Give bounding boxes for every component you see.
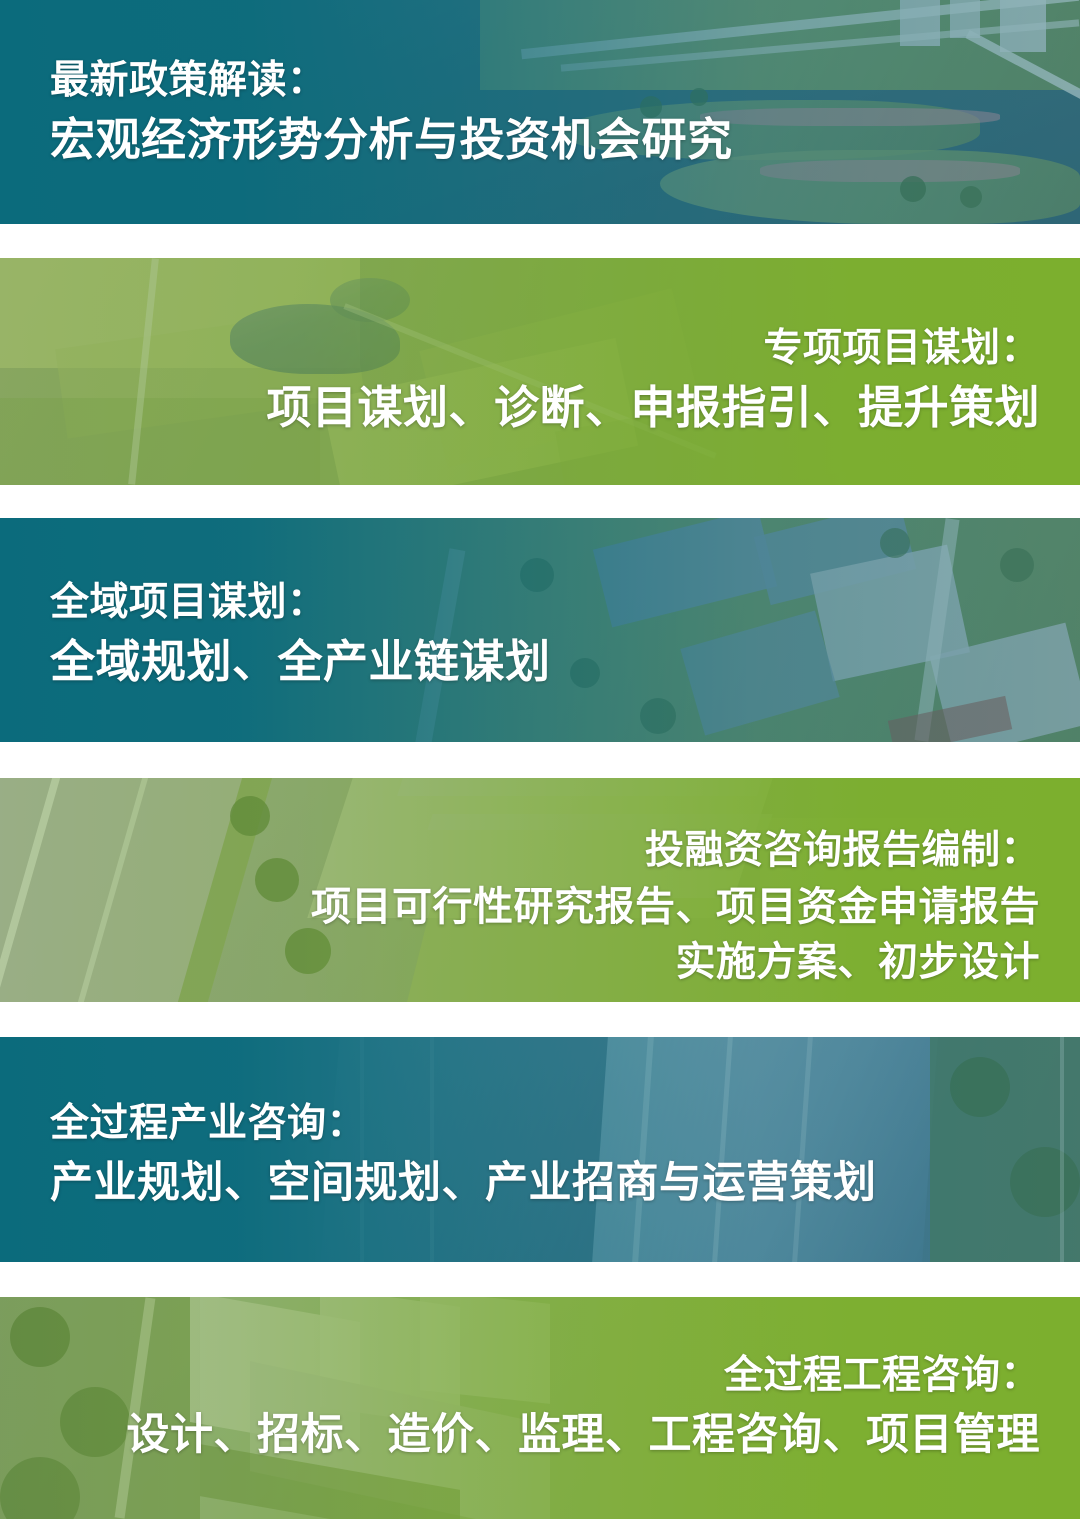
band-6-title: 全过程工程咨询：	[127, 1347, 1041, 1405]
band-5-title: 全过程产业咨询：	[50, 1095, 877, 1153]
band-4-title: 投融资咨询报告编制：	[311, 822, 1040, 880]
band-2-text: 专项项目谋划： 项目谋划、诊断、申报指引、提升策划	[266, 320, 1040, 438]
service-banner-poster: 最新政策解读： 宏观经济形势分析与投资机会研究 专项项目谋划： 项目谋划、诊断、…	[0, 0, 1080, 1519]
band-full-process-engineering-consulting[interactable]: 全过程工程咨询： 设计、招标、造价、监理、工程咨询、项目管理	[0, 1297, 1080, 1519]
band-4-text: 投融资咨询报告编制： 项目可行性研究报告、项目资金申请报告 实施方案、初步设计	[311, 822, 1040, 990]
band-investment-financing-report[interactable]: 投融资咨询报告编制： 项目可行性研究报告、项目资金申请报告 实施方案、初步设计	[0, 778, 1080, 1002]
band-3-text: 全域项目谋划： 全域规划、全产业链谋划	[50, 574, 551, 692]
band-4-line-2: 实施方案、初步设计	[311, 935, 1040, 990]
band-2-line-1: 项目谋划、诊断、申报指引、提升策划	[266, 378, 1040, 438]
band-policy-interpretation[interactable]: 最新政策解读： 宏观经济形势分析与投资机会研究	[0, 0, 1080, 224]
band-2-title: 专项项目谋划：	[266, 320, 1040, 378]
band-6-line-1: 设计、招标、造价、监理、工程咨询、项目管理	[127, 1405, 1041, 1465]
band-1-line-1: 宏观经济形势分析与投资机会研究	[50, 110, 733, 170]
band-3-line-1: 全域规划、全产业链谋划	[50, 632, 551, 692]
band-full-process-industry-consulting[interactable]: 全过程产业咨询： 产业规划、空间规划、产业招商与运营策划	[0, 1037, 1080, 1262]
band-4-line-1: 项目可行性研究报告、项目资金申请报告	[311, 880, 1040, 935]
band-1-text: 最新政策解读： 宏观经济形势分析与投资机会研究	[50, 52, 733, 170]
band-whole-region-planning[interactable]: 全域项目谋划： 全域规划、全产业链谋划	[0, 518, 1080, 742]
band-3-title: 全域项目谋划：	[50, 574, 551, 632]
band-5-line-1: 产业规划、空间规划、产业招商与运营策划	[50, 1153, 877, 1213]
band-5-text: 全过程产业咨询： 产业规划、空间规划、产业招商与运营策划	[50, 1095, 877, 1213]
band-special-project-planning[interactable]: 专项项目谋划： 项目谋划、诊断、申报指引、提升策划	[0, 258, 1080, 485]
band-6-text: 全过程工程咨询： 设计、招标、造价、监理、工程咨询、项目管理	[127, 1347, 1041, 1465]
band-1-title: 最新政策解读：	[50, 52, 733, 110]
